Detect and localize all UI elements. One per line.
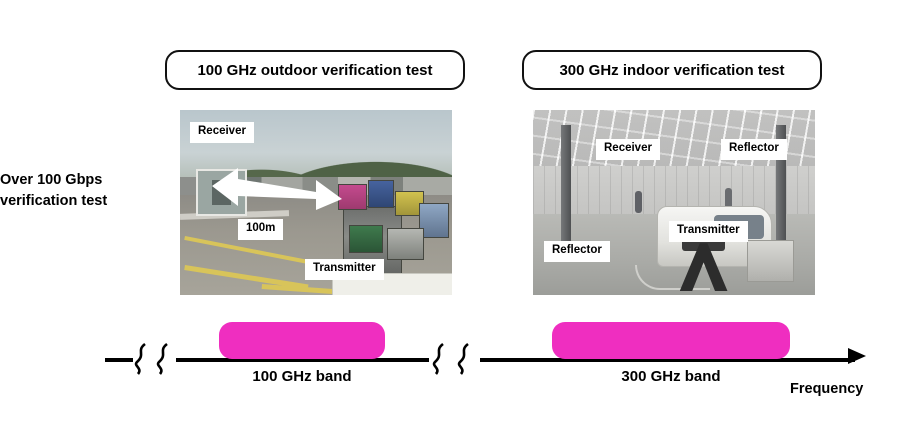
equipment-box — [349, 225, 384, 253]
caption-text: Reflector — [552, 244, 602, 256]
equipment-box — [387, 228, 424, 260]
axis-break-icon — [431, 342, 447, 376]
diagram-canvas: Over 100 Gbps verification test 100 GHz … — [0, 0, 900, 440]
axis-break-icon — [456, 342, 472, 376]
arrow-right-icon — [848, 348, 866, 364]
caption-text: Receiver — [604, 142, 652, 154]
title-box-outdoor-label: 100 GHz outdoor verification test — [197, 62, 432, 79]
caption-transmitter-indoor: Transmitter — [669, 221, 748, 242]
band-block-300ghz — [552, 322, 790, 359]
axis-break-icon — [133, 342, 149, 376]
caption-receiver-indoor: Receiver — [596, 139, 660, 160]
caption-text: Transmitter — [677, 224, 740, 236]
photo-indoor-test-site — [533, 110, 815, 295]
caption-text: Transmitter — [313, 262, 376, 274]
axis-label-frequency: Frequency — [790, 381, 863, 397]
band-label-300ghz: 300 GHz band — [552, 368, 790, 385]
frequency-axis-segment — [105, 358, 133, 362]
caption-text: 100m — [246, 222, 275, 234]
caption-text: Receiver — [198, 125, 246, 137]
caption-reflector-right-indoor: Reflector — [721, 139, 787, 160]
band-label-100ghz: 100 GHz band — [219, 368, 385, 385]
caption-distance-outdoor: 100m — [238, 219, 283, 240]
caption-reflector-left-indoor: Reflector — [544, 241, 610, 262]
section-label: Over 100 Gbps verification test — [0, 170, 160, 212]
equipment-box — [338, 184, 367, 210]
title-box-indoor-label: 300 GHz indoor verification test — [559, 62, 784, 79]
axis-break-icon — [155, 342, 171, 376]
pillar — [561, 125, 571, 258]
band-block-100ghz — [219, 322, 385, 359]
section-label-line-2: verification test — [0, 191, 160, 212]
section-label-line-1: Over 100 Gbps — [0, 170, 160, 191]
caption-receiver-outdoor: Receiver — [190, 122, 254, 143]
equipment-cart — [747, 240, 794, 283]
equipment-box — [368, 180, 394, 208]
caption-text: Reflector — [729, 142, 779, 154]
title-box-outdoor: 100 GHz outdoor verification test — [165, 50, 465, 90]
title-box-indoor: 300 GHz indoor verification test — [522, 50, 822, 90]
caption-transmitter-outdoor: Transmitter — [305, 259, 384, 280]
white-double-arrow-icon — [212, 166, 342, 210]
person-figure — [635, 191, 642, 213]
